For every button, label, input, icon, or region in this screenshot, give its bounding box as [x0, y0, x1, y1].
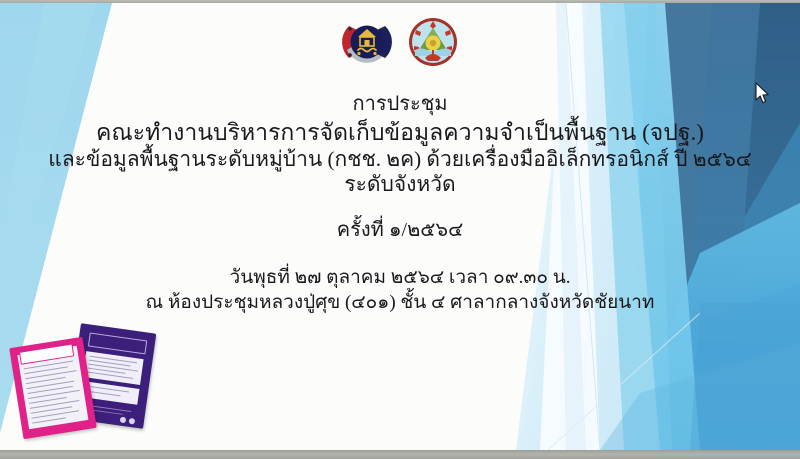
window-frame-bottom — [0, 450, 800, 459]
booklet-purple-title-box — [88, 332, 147, 354]
booklet-purple-band-1 — [83, 351, 144, 385]
meeting-title-line2: และข้อมูลพื้นฐานระดับหมู่บ้าน (กชช. ๒ค) … — [0, 147, 800, 172]
meeting-datetime: วันพุธที่ ๒๗ ตุลาคม ๒๕๖๔ เวลา ๐๙.๓๐ น. — [0, 267, 800, 289]
emblem-row — [0, 16, 800, 68]
survey-questionnaire-booklets — [12, 318, 172, 438]
meeting-title-line3: ระดับจังหวัด — [0, 172, 800, 197]
meeting-round: ครั้งที่ ๑/๒๕๖๔ — [0, 219, 800, 243]
booklet-pink — [9, 337, 96, 439]
meeting-heading: การประชุม — [0, 93, 800, 117]
slide-text-block: การประชุม คณะทำงานบริหารการจัดเก็บข้อมูล… — [0, 93, 800, 315]
chainat-province-seal-icon — [407, 16, 459, 68]
meeting-title-line1: คณะทำงานบริหารการจัดเก็บข้อมูลความจำเป็น… — [0, 119, 800, 146]
presentation-window: การประชุม คณะทำงานบริหารการจัดเก็บข้อมูล… — [0, 0, 800, 459]
meeting-venue: ณ ห้องประชุมหลวงปู่ศุข (๔๐๑) ชั้น ๔ ศาลา… — [0, 292, 800, 314]
slide-canvas[interactable]: การประชุม คณะทำงานบริหารการจัดเก็บข้อมูล… — [0, 3, 800, 450]
cdd-emblem-icon — [341, 16, 393, 68]
